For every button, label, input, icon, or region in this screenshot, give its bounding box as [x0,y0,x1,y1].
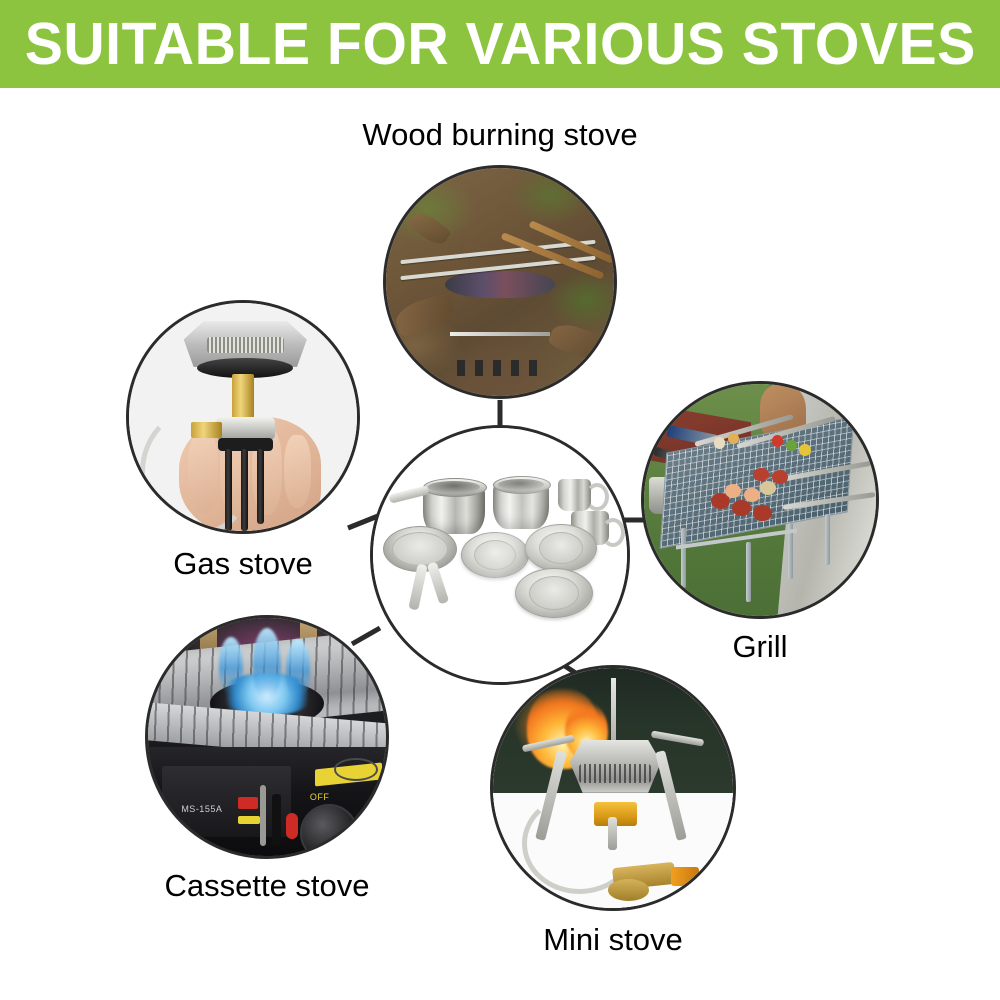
burner-perforations [579,764,651,783]
circle-cassette-stove[interactable]: MS-155A OFF [145,615,389,859]
control-knob[interactable] [300,804,358,859]
leaf-2 [547,318,608,364]
flame-3 [286,639,310,696]
sausage-5 [753,505,772,521]
lever-slot [260,785,266,847]
flame-1 [219,637,243,694]
valve-knob[interactable] [671,867,700,886]
yellow-label [238,816,260,824]
pan-handle-right [427,561,449,604]
node-wood-burning-stove: Wood burning stove [383,165,617,399]
label-mini-stove: Mini stove [486,924,740,955]
cassette-stove-photo: MS-155A OFF [148,618,386,856]
pot-large-interior [428,481,480,493]
finger-4 [284,435,311,508]
stove-body-band [450,332,550,336]
grill-leg-2 [746,542,751,602]
cookware-photo [373,428,627,682]
circle-grill[interactable] [641,381,879,619]
leaf-1 [392,292,458,338]
plate-back-right-inner [539,532,583,564]
wood-burning-stove-photo [386,168,614,396]
lever-handle [272,794,281,846]
label-wood-burning-stove: Wood burning stove [361,119,639,150]
infographic-stage: Wood burning stove [0,88,1000,1000]
gas-stove-photo [129,303,357,531]
cup-back-handle [585,483,609,511]
center-node-cookware [370,425,630,685]
cup-front-handle [601,518,625,547]
flame-2 [253,628,282,699]
grill-leg-1 [681,528,686,588]
mini-stove-photo [493,668,733,908]
off-label: OFF [310,792,330,802]
grill-photo [644,384,876,616]
red-knob-tab [286,813,298,839]
red-indicator [238,797,258,809]
model-code: MS-155A [181,804,222,814]
page-title: SUITABLE FOR VARIOUS STOVES [24,15,975,74]
node-gas-stove: Gas stove [126,300,360,534]
stove-vent-row [457,360,544,376]
burner-mesh [207,337,285,353]
veg-piece-5 [799,444,811,456]
sausage-2 [772,470,788,484]
black-tube-1 [225,449,232,531]
node-grill: Grill [641,381,879,619]
label-grill: Grill [639,631,881,662]
sausage-4 [732,500,751,516]
circle-wood-burning-stove[interactable] [383,165,617,399]
veg-piece-3 [772,435,784,447]
shrimp-1 [725,484,741,498]
header-banner: SUITABLE FOR VARIOUS STOVES [0,0,1000,88]
plate-back-left-inner [474,540,516,570]
plate-front-inner [529,576,579,610]
veg-piece-1 [714,437,726,449]
circle-gas-stove[interactable] [126,300,360,534]
frying-pan-inner [392,532,448,566]
circle-mini-stove[interactable] [490,665,736,911]
valve-disc [608,879,649,901]
hand-in-background [666,678,736,740]
grill-leg-4 [825,514,830,565]
leaf-3 [407,208,452,249]
label-cassette-stove: Cassette stove [133,870,401,901]
black-tube-2 [241,449,248,531]
center-circle[interactable] [370,425,630,685]
gas-hose [140,408,255,534]
black-tube-3 [257,449,264,524]
pot-medium-interior [498,479,544,490]
node-mini-stove: Mini stove [490,665,736,911]
node-cassette-stove: MS-155A OFF Cassette stove [145,615,389,859]
label-gas-stove: Gas stove [121,548,365,579]
